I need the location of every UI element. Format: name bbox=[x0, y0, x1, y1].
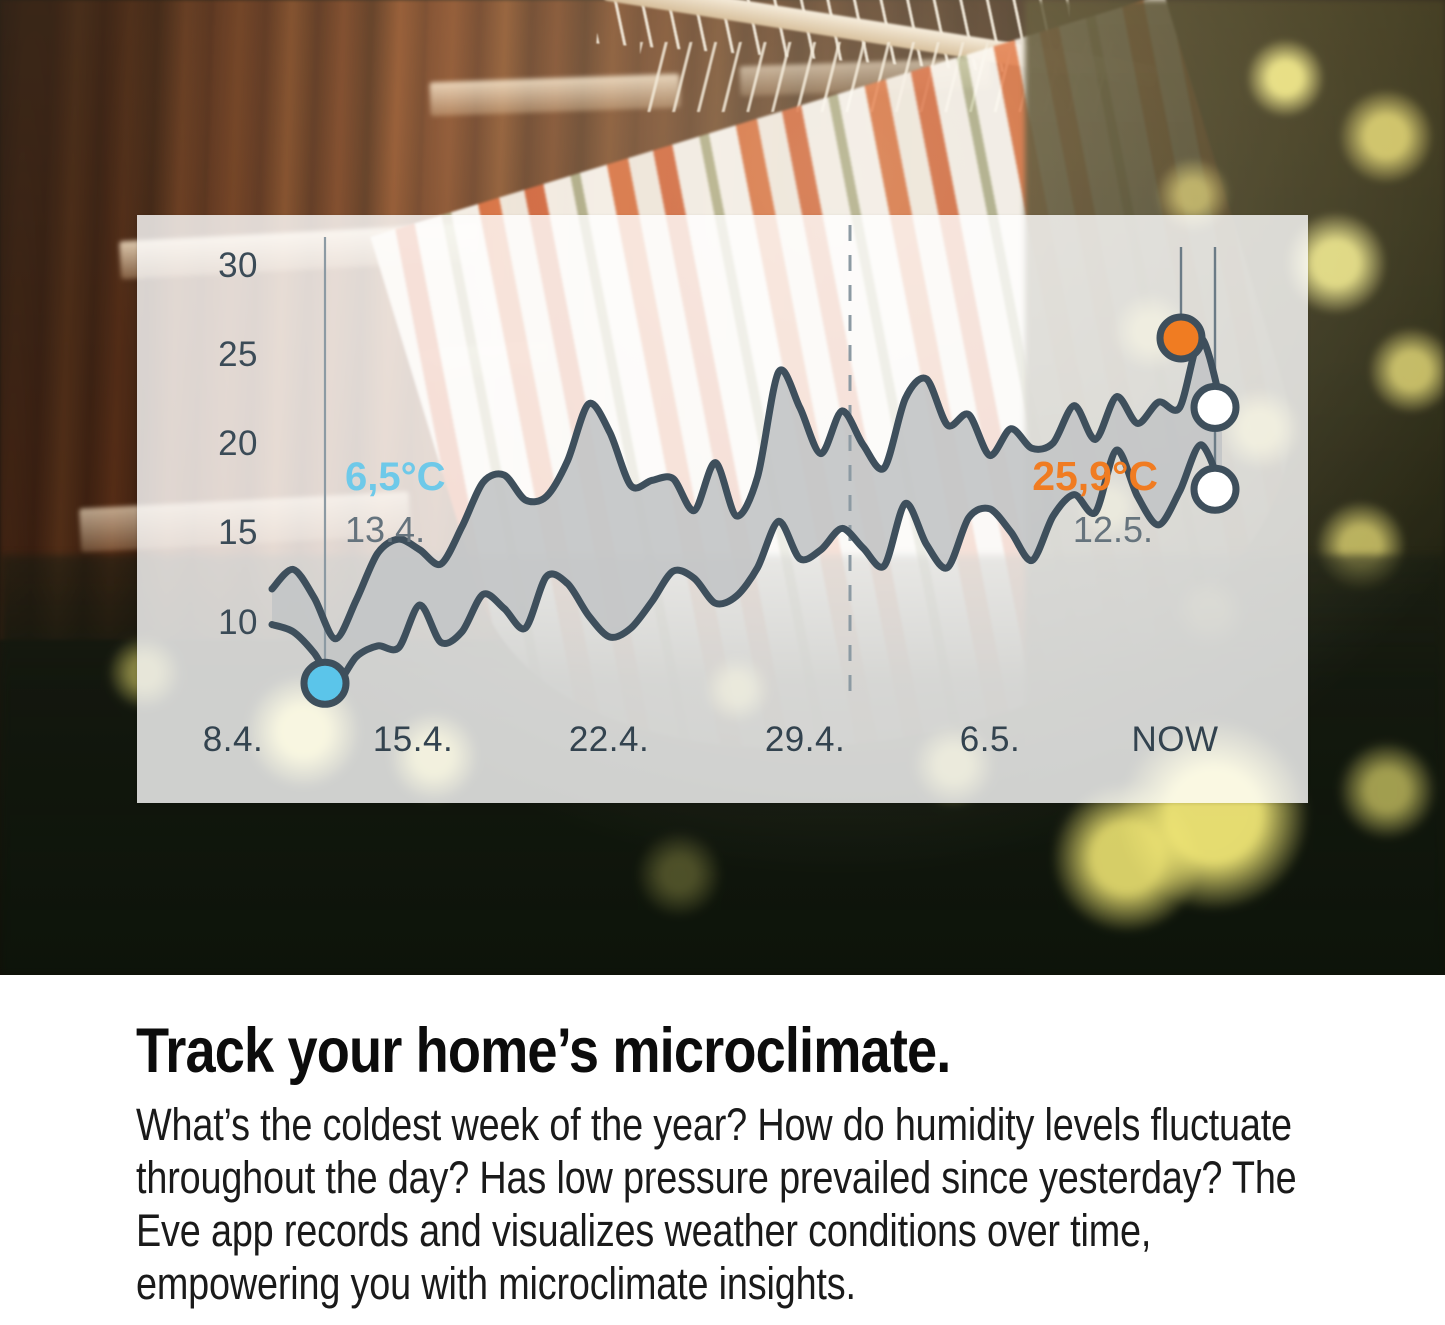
marketing-text-block: Track your home’s microclimate. What’s t… bbox=[0, 975, 1445, 1325]
y-tick-25: 25 bbox=[192, 335, 258, 375]
max-temperature-label: 25,9°C bbox=[1032, 453, 1158, 500]
page-headline: Track your home’s microclimate. bbox=[136, 1018, 1168, 1084]
min-date-label: 13.4. bbox=[345, 509, 425, 551]
y-axis: 30 25 20 15 10 bbox=[192, 215, 258, 803]
body-paragraph: What’s the coldest week of the year? How… bbox=[136, 1098, 1362, 1310]
min-temperature-label: 6,5°C bbox=[345, 455, 446, 500]
x-tick-15-4: 15.4. bbox=[373, 720, 453, 760]
y-tick-10: 10 bbox=[192, 603, 258, 643]
y-tick-15: 15 bbox=[192, 513, 258, 553]
y-tick-20: 20 bbox=[192, 424, 258, 464]
y-tick-30: 30 bbox=[192, 246, 258, 286]
x-tick-22-4: 22.4. bbox=[569, 720, 649, 760]
x-tick-29-4: 29.4. bbox=[765, 720, 845, 760]
hero-photo-container: 30 25 20 15 10 8.4. 15.4. 22.4. 29.4. 6.… bbox=[0, 0, 1445, 975]
temperature-chart-card[interactable]: 30 25 20 15 10 8.4. 15.4. 22.4. 29.4. 6.… bbox=[137, 215, 1308, 803]
x-tick-8-4: 8.4. bbox=[203, 720, 263, 760]
max-date-label: 12.5. bbox=[1073, 509, 1153, 551]
x-tick-now: NOW bbox=[1131, 720, 1218, 760]
x-tick-6-5: 6.5. bbox=[960, 720, 1020, 760]
